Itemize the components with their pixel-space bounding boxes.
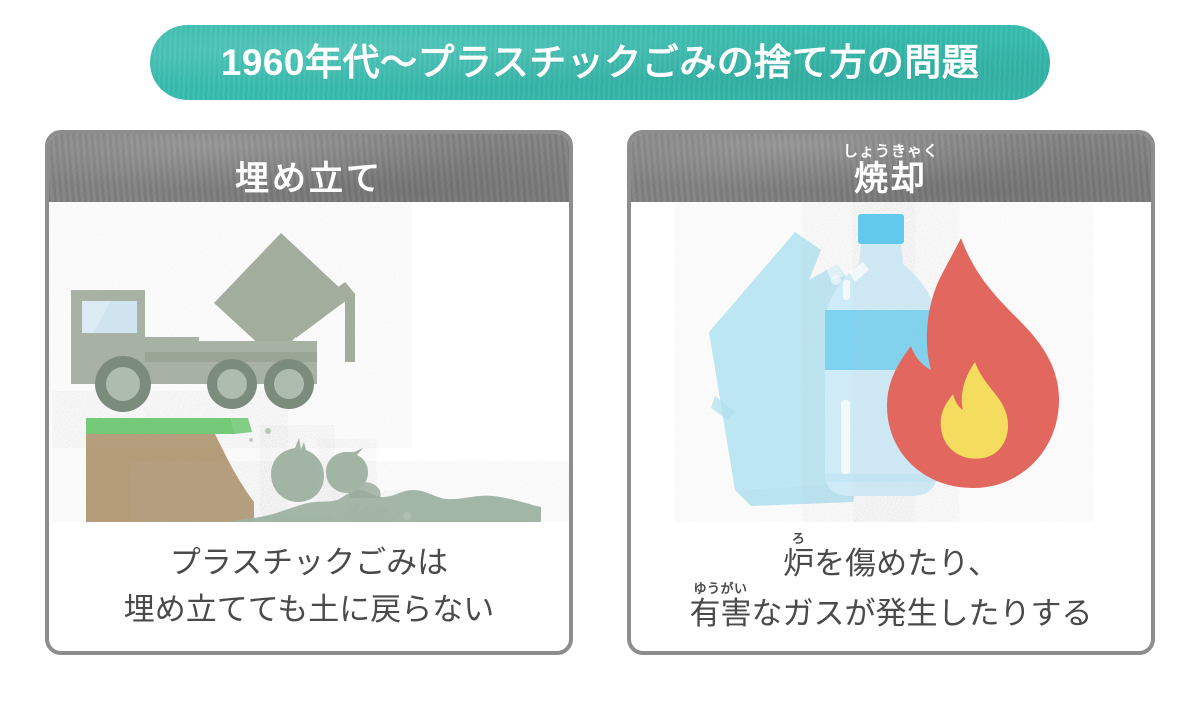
- card-incineration: しょうきゃく 焼却: [627, 130, 1155, 655]
- grass-strip: [86, 418, 252, 434]
- card-incineration-title-group: しょうきゃく 焼却: [843, 144, 939, 198]
- card-incineration-body: ろ 炉 を傷めたり、 ゆうがい 有害 なガスが発生したりする: [631, 202, 1151, 647]
- card-landfill-title: 埋め立て: [235, 162, 383, 198]
- caption-line-2-rest: なガスが発生したりする: [752, 582, 1093, 633]
- incineration-illustration: [631, 202, 1151, 522]
- card-landfill-title-group: 埋め立て: [235, 144, 383, 198]
- caption-line-2: 埋め立てても土に戻らない: [49, 587, 569, 634]
- garbage-bag-falling-1: [271, 438, 324, 502]
- title-banner: 1960年代〜プラスチックごみの捨て方の問題: [150, 25, 1050, 100]
- landfill-scene-svg: [49, 202, 569, 522]
- page-title: 1960年代〜プラスチックごみの捨て方の問題: [221, 44, 980, 81]
- soil-landfill-ground: [86, 424, 254, 522]
- card-incineration-caption: ろ 炉 を傷めたり、 ゆうがい 有害 なガスが発生したりする: [631, 532, 1151, 633]
- card-landfill-header: 埋め立て: [45, 130, 573, 202]
- incineration-scene-svg: [631, 202, 1151, 522]
- caption-line-1: プラスチックごみは: [49, 540, 569, 587]
- caption-line-2: ゆうがい 有害 なガスが発生したりする: [631, 582, 1151, 633]
- dump-truck: [71, 233, 355, 412]
- bottle-cap: [858, 214, 904, 244]
- card-landfill-body: プラスチックごみは 埋め立てても土に戻らない: [49, 202, 569, 647]
- bottle-label: [825, 310, 937, 370]
- ruby-ro: ろ 炉: [783, 532, 814, 583]
- ruby-yuugai: ゆうがい 有害: [690, 582, 752, 633]
- caption-line-1: ろ 炉 を傷めたり、: [631, 532, 1151, 583]
- card-incineration-title: 焼却: [854, 162, 928, 198]
- garbage-bag-falling-2: [326, 448, 368, 493]
- card-incineration-furigana: しょうきゃく: [843, 144, 939, 161]
- caption-line-1-rest: を傷めたり、: [814, 532, 999, 583]
- card-landfill-caption: プラスチックごみは 埋め立てても土に戻らない: [49, 540, 569, 633]
- card-incineration-header: しょうきゃく 焼却: [627, 130, 1155, 202]
- card-landfill: 埋め立て: [45, 130, 573, 655]
- truck-bed: [214, 233, 341, 359]
- landfill-illustration: [49, 202, 569, 522]
